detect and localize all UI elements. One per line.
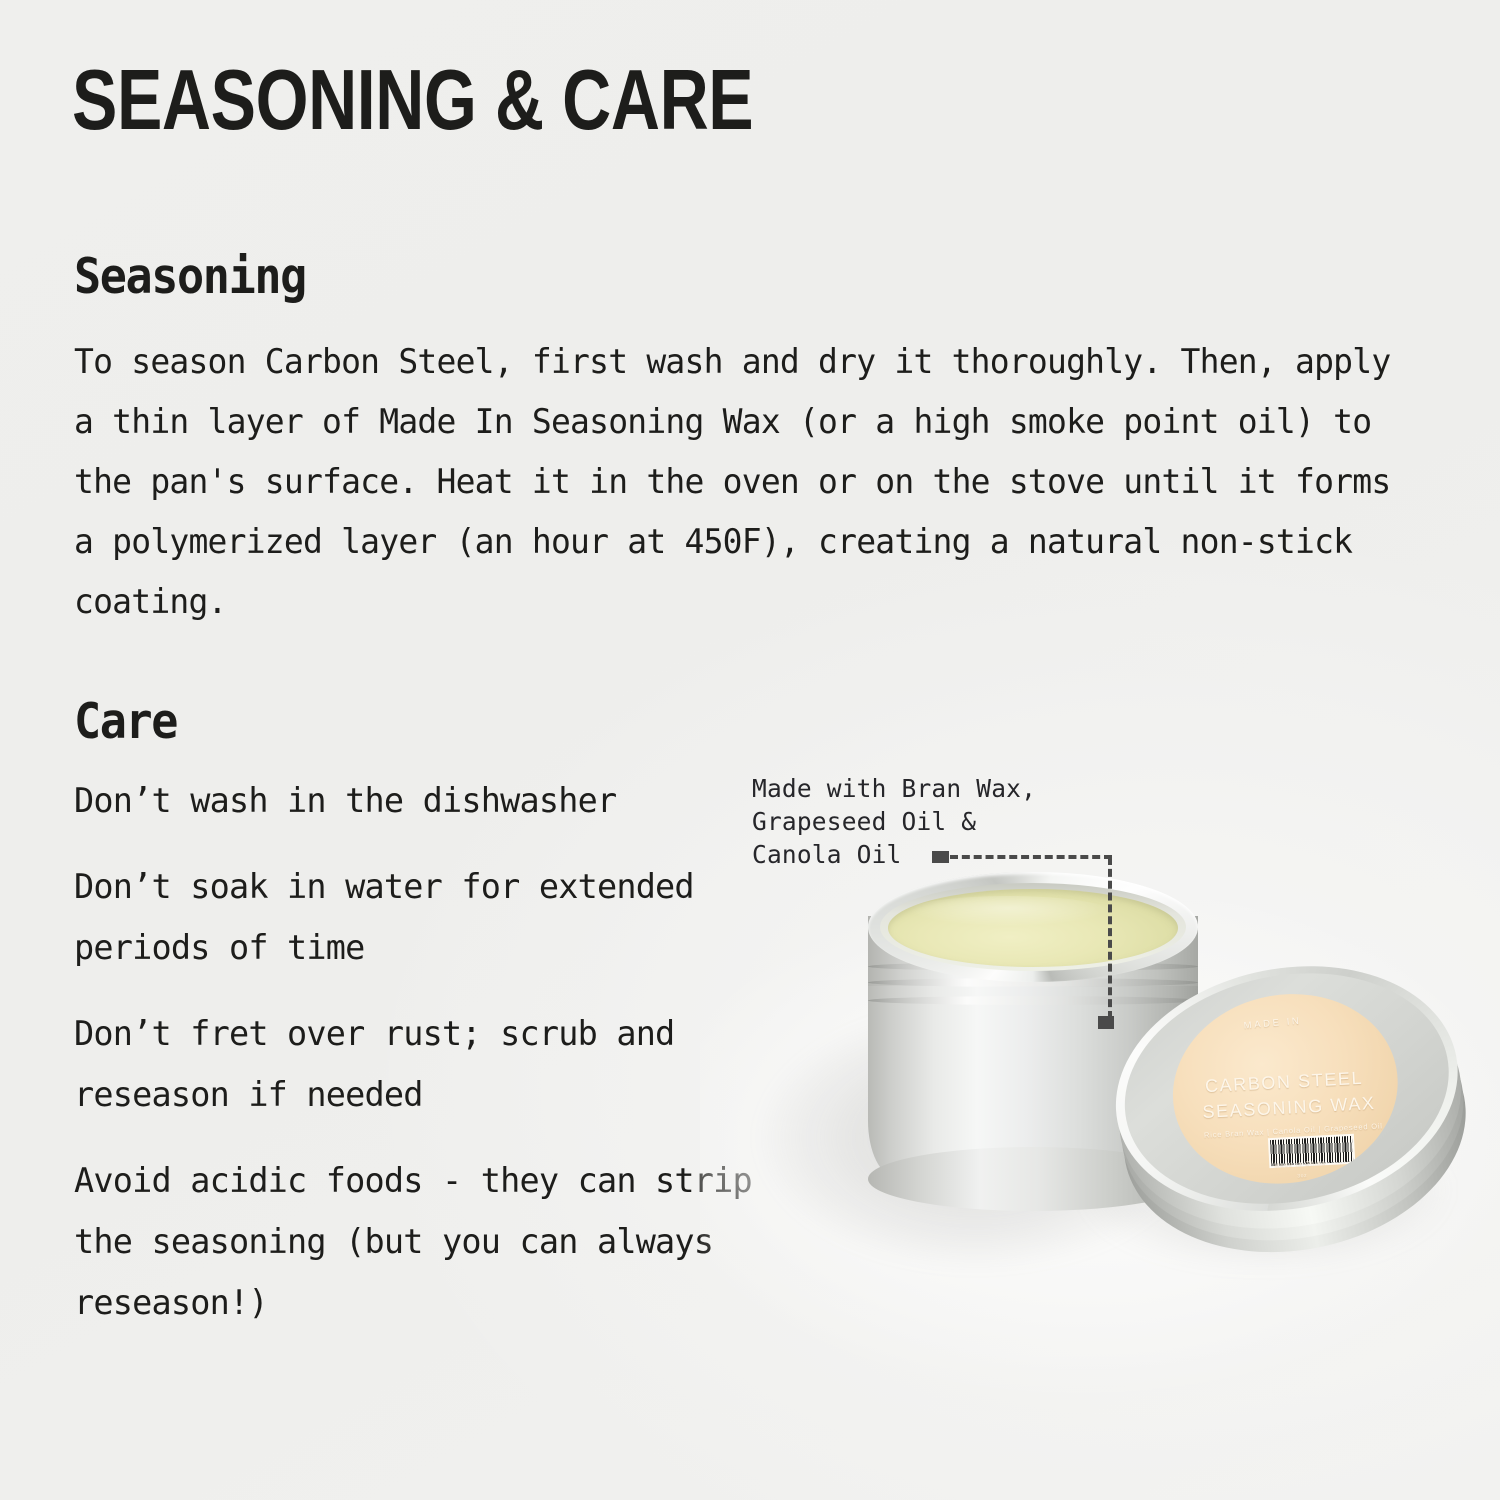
list-item: Avoid acidic foods - they can strip the … <box>74 1150 774 1333</box>
list-item: Don’t wash in the dishwasher <box>74 770 774 831</box>
care-list: Don’t wash in the dishwasher Don’t soak … <box>74 770 774 1358</box>
callout-leader-vertical <box>1108 857 1112 1019</box>
wax-highlight <box>908 896 1108 926</box>
callout-leader-end-marker <box>1098 1016 1114 1029</box>
care-heading: Care <box>74 697 177 746</box>
callout-leader-horizontal <box>950 855 1112 859</box>
product-photo: MADE IN CARBON STEEL SEASONING WAX Rice … <box>700 840 1500 1400</box>
page-title: SEASONING & CARE <box>72 58 753 143</box>
list-item: Don’t fret over rust; scrub and reseason… <box>74 1003 774 1125</box>
callout-leader-start-marker <box>932 851 949 863</box>
jar-opening-lip <box>868 872 1198 982</box>
seasoning-body-text: To season Carbon Steel, first wash and d… <box>74 332 1394 632</box>
seasoning-heading: Seasoning <box>74 252 306 301</box>
list-item: Don’t soak in water for extended periods… <box>74 856 774 978</box>
